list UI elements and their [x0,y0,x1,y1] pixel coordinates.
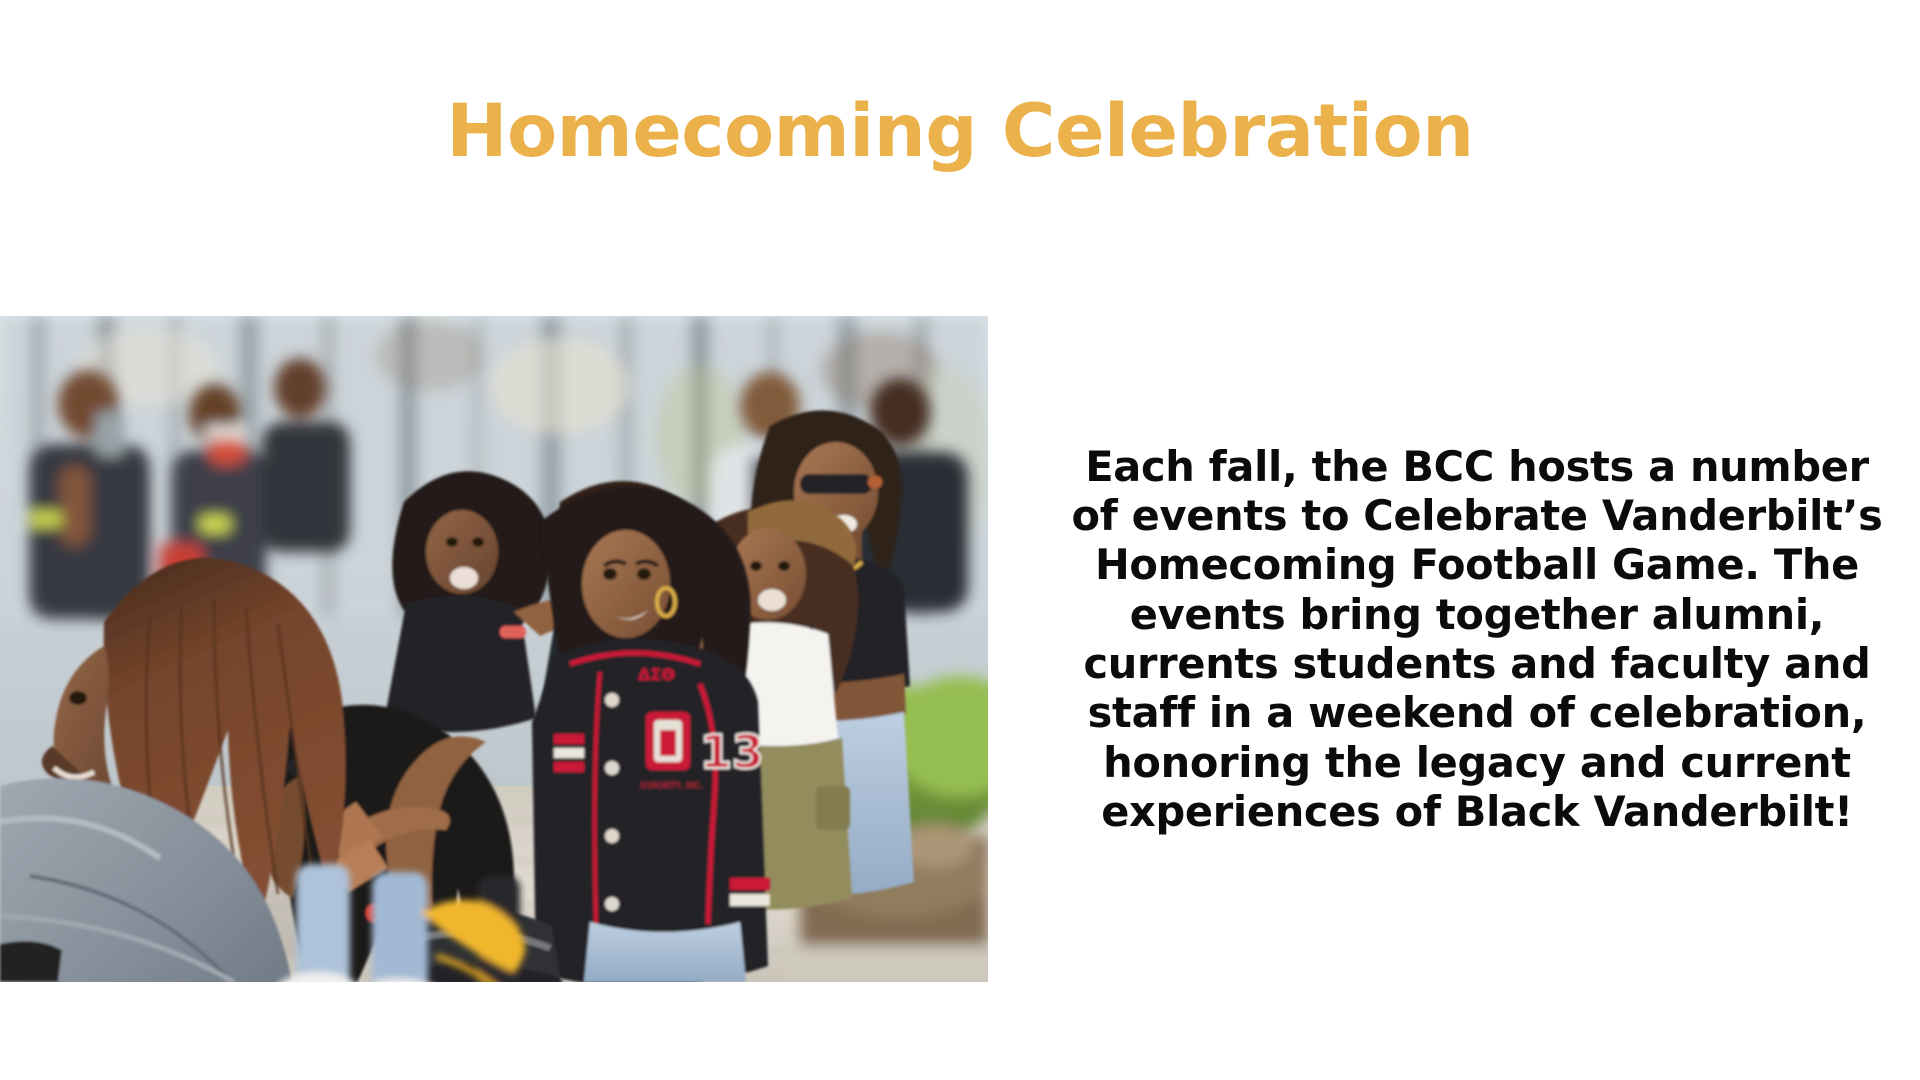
page-title: Homecoming Celebration [0,93,1920,170]
homecoming-photo-artwork: ΔΣΘ SORORITY, INC. 13 [0,316,988,982]
homecoming-photo: ΔΣΘ SORORITY, INC. 13 [0,316,988,982]
body-paragraph: Each fall, the BCC hosts a number of eve… [1062,442,1892,837]
slide-canvas: Homecoming Celebration [0,0,1920,1080]
